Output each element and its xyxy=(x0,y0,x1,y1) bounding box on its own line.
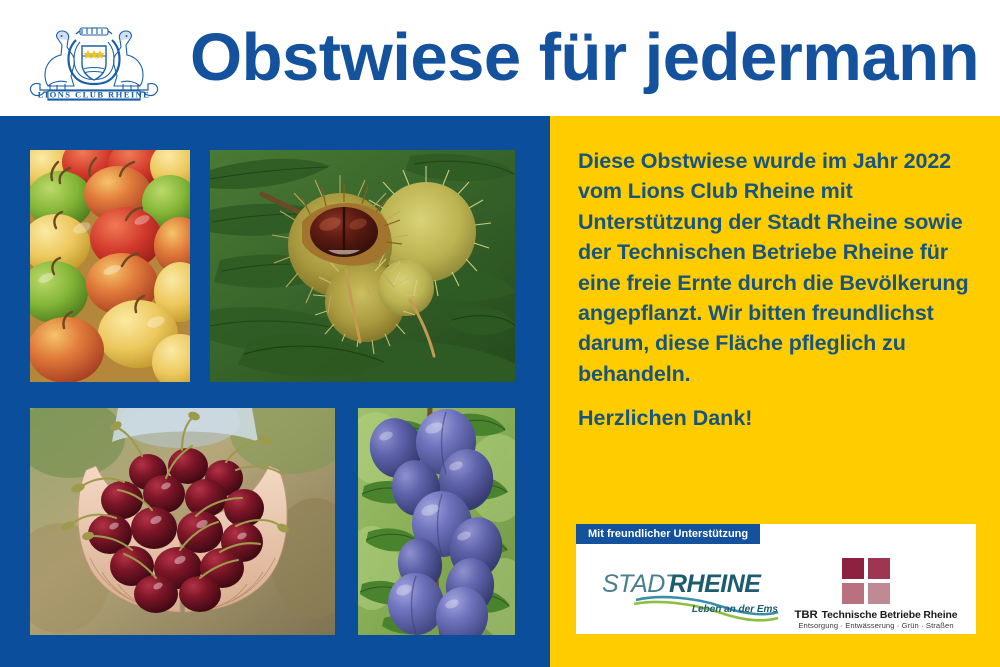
stadt-word-bold: RHEINE xyxy=(669,570,762,598)
thanks-text: Herzlichen Dank! xyxy=(578,403,978,433)
main-body-text: Diese Obstwiese wurde im Jahr 2022 vom L… xyxy=(578,146,978,389)
sponsor-logos: STADT RHEINE Leben an der Ems TBRTechnis… xyxy=(576,544,976,634)
sponsor-ribbon-label: Mit freundlicher Unterstützung xyxy=(576,524,760,544)
tbr-logo: TBRTechnische Betriebe Rheine Entsorgung… xyxy=(784,552,969,630)
photo-chestnut xyxy=(210,150,515,382)
photo-apples xyxy=(30,150,190,382)
svg-text:TBRTechnische Betriebe Rheine: TBRTechnische Betriebe Rheine xyxy=(795,609,958,621)
poster-header: LIONS CLUB RHEINE Obstwiese für jederman… xyxy=(0,0,1000,116)
tbr-name: Technische Betriebe Rheine xyxy=(822,610,958,621)
stadt-rheine-logo: STADT RHEINE Leben an der Ems xyxy=(600,566,780,622)
tbr-abbrev: TBR xyxy=(795,609,818,621)
tbr-squares-icon xyxy=(842,558,890,604)
page-title: Obstwiese für jedermann xyxy=(190,14,979,102)
svg-text:LIONS CLUB RHEINE: LIONS CLUB RHEINE xyxy=(38,89,151,99)
sponsor-box: Mit freundlicher Unterstützung STADT RHE… xyxy=(576,524,976,634)
tbr-services: Entsorgung · Entwässerung · Grün · Straß… xyxy=(798,621,953,630)
lions-club-crest-icon: LIONS CLUB RHEINE xyxy=(14,12,174,106)
stadt-tagline: Leben an der Ems xyxy=(692,604,779,615)
photo-plums xyxy=(358,408,515,635)
photo-cherries xyxy=(30,408,335,635)
